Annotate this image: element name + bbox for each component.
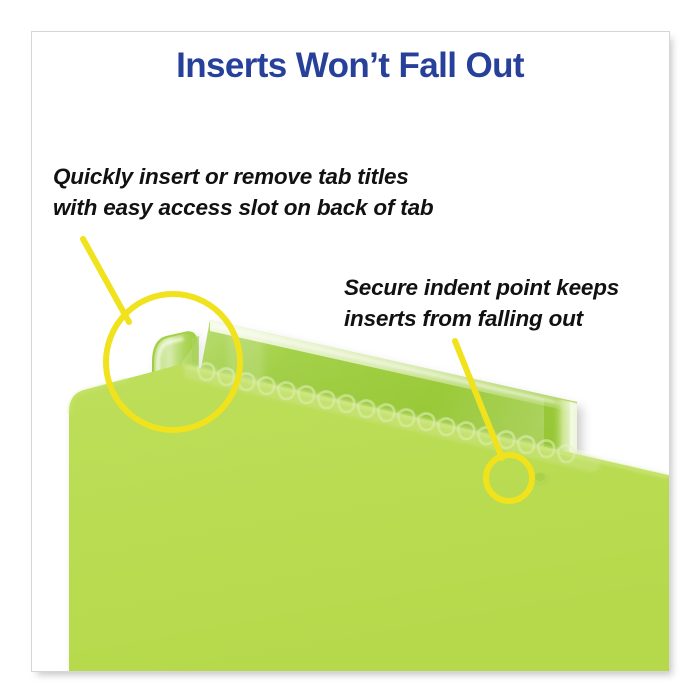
caption-line-2: with easy access slot on back of tab: [53, 192, 433, 223]
callout-caption-secure-indent: Secure indent point keeps inserts from f…: [344, 272, 619, 334]
caption-line-2: inserts from falling out: [344, 303, 619, 334]
product-feature-image: Inserts Won’t Fall Out Quickly insert or…: [0, 0, 700, 700]
callout-caption-access-slot: Quickly insert or remove tab titles with…: [53, 161, 433, 223]
caption-line-1: Secure indent point keeps: [344, 272, 619, 303]
divider-artwork: [32, 32, 669, 671]
caption-line-1: Quickly insert or remove tab titles: [53, 161, 433, 192]
page-title: Inserts Won’t Fall Out: [32, 46, 669, 86]
divider-body: [69, 320, 669, 671]
image-card-content: Inserts Won’t Fall Out Quickly insert or…: [32, 32, 669, 671]
secure-indent-point: [532, 472, 550, 486]
